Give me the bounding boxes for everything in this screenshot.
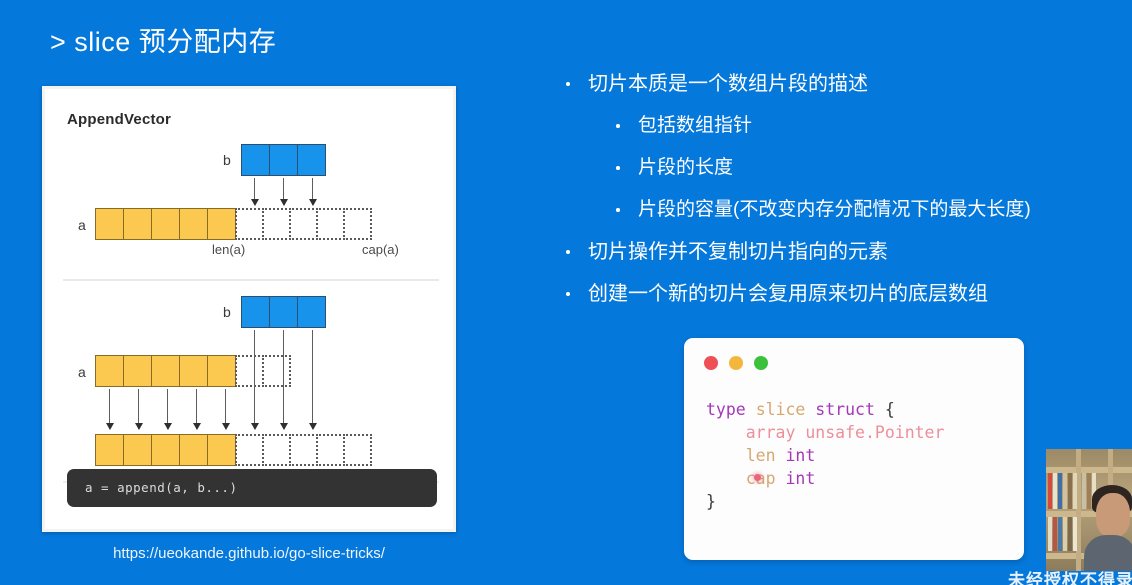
window-controls — [704, 356, 768, 370]
a-spare-cell — [316, 208, 345, 240]
list-item: 包括数组指针 — [558, 116, 1132, 136]
list-item-text: 创建一个新的切片会复用原来切片的底层数组 — [588, 283, 988, 305]
book — [1087, 473, 1091, 509]
append-code-text: a = append(a, b...) — [85, 480, 238, 495]
list-item-text: 片段的容量(不改变内存分配情况下的最大长度) — [638, 199, 1031, 220]
result-spare-cell — [289, 434, 318, 466]
a-cell — [179, 355, 208, 387]
bullet-list: 切片本质是一个数组片段的描述 包括数组指针 片段的长度 片段的容量(不改变内存分… — [558, 74, 1132, 326]
result-cell — [123, 434, 152, 466]
code-token-type: type — [706, 400, 746, 419]
a-cell — [151, 208, 180, 240]
a-cell — [123, 208, 152, 240]
result-spare-cell — [316, 434, 345, 466]
arrow-down — [196, 389, 197, 429]
arrow-down — [167, 389, 168, 429]
top-b-label: b — [223, 152, 231, 168]
bottom-a-label: a — [78, 364, 86, 380]
result-spare-cell — [343, 434, 372, 466]
bottom-b-label: b — [223, 304, 231, 320]
shelf-divider — [1076, 449, 1081, 571]
cap-label: cap(a) — [362, 242, 399, 257]
code-token-array-field: array unsafe.Pointer — [746, 423, 945, 442]
code-block: type slice struct { array unsafe.Pointer… — [706, 398, 944, 513]
close-button-icon[interactable] — [704, 356, 718, 370]
code-token-len-type: int — [786, 446, 816, 465]
slide-canvas: > slice 预分配内存 AppendVector b a — [0, 0, 1132, 585]
book — [1073, 517, 1077, 551]
result-row — [95, 434, 370, 466]
list-item-text: 片段的长度 — [638, 157, 733, 178]
a-spare-cell — [289, 208, 318, 240]
book — [1053, 473, 1057, 509]
books-group — [1048, 473, 1077, 509]
code-token-struct: struct — [815, 400, 875, 419]
a-cell — [95, 355, 124, 387]
arrow-down-long — [312, 330, 313, 429]
list-item-text: 切片本质是一个数组片段的描述 — [588, 73, 868, 95]
section-divider — [63, 279, 439, 281]
book — [1048, 473, 1052, 509]
a-spare-cell — [343, 208, 372, 240]
list-item: 片段的容量(不改变内存分配情况下的最大长度) — [558, 200, 1132, 220]
book — [1068, 517, 1072, 551]
minimize-button-icon[interactable] — [729, 356, 743, 370]
person-face — [1096, 493, 1130, 537]
a-spare-cell — [262, 355, 291, 387]
b-cell — [297, 144, 326, 176]
code-token-cap-type: int — [786, 469, 816, 488]
b-cell — [269, 144, 298, 176]
a-cell — [207, 355, 236, 387]
diagram-panel: AppendVector b a len(a) cap(a) — [42, 86, 456, 532]
top-a-row — [95, 208, 370, 240]
webcam-overlay[interactable] — [1046, 449, 1132, 571]
append-code-bar: a = append(a, b...) — [67, 469, 437, 507]
list-item: 切片本质是一个数组片段的描述 — [558, 74, 1132, 94]
list-item-text: 包括数组指针 — [638, 115, 752, 136]
list-item: 创建一个新的切片会复用原来切片的底层数组 — [558, 284, 1132, 304]
result-cell — [95, 434, 124, 466]
book — [1048, 517, 1052, 551]
bottom-a-row — [95, 355, 289, 387]
top-a-label: a — [78, 217, 86, 233]
bullet-dot-icon — [616, 166, 620, 170]
b-cell — [269, 296, 298, 328]
len-label: len(a) — [212, 242, 245, 257]
source-url: https://ueokande.github.io/go-slice-tric… — [42, 545, 456, 562]
bullet-dot-icon — [566, 82, 570, 86]
laser-pointer-cursor — [754, 474, 761, 481]
arrow-down — [312, 178, 313, 205]
arrow-down — [254, 178, 255, 205]
code-token-slice: slice — [756, 400, 806, 419]
a-cell — [207, 208, 236, 240]
book — [1063, 517, 1067, 551]
result-spare-cell — [262, 434, 291, 466]
a-cell — [179, 208, 208, 240]
book — [1058, 517, 1062, 551]
b-cell — [241, 296, 270, 328]
a-spare-cell — [262, 208, 291, 240]
book — [1068, 473, 1072, 509]
arrow-down — [138, 389, 139, 429]
arrow-down — [283, 178, 284, 205]
book — [1082, 473, 1086, 509]
bullet-dot-icon — [566, 292, 570, 296]
a-cell — [95, 208, 124, 240]
a-spare-cell — [235, 355, 264, 387]
top-b-row — [241, 144, 325, 176]
result-cell — [151, 434, 180, 466]
list-item-text: 切片操作并不复制切片指向的元素 — [588, 241, 888, 263]
a-cell — [151, 355, 180, 387]
a-cell — [123, 355, 152, 387]
maximize-button-icon[interactable] — [754, 356, 768, 370]
list-item: 片段的长度 — [558, 158, 1132, 178]
result-spare-cell — [235, 434, 264, 466]
arrow-down — [225, 389, 226, 429]
page-title: > slice 预分配内存 — [50, 20, 276, 59]
book — [1053, 517, 1057, 551]
b-cell — [241, 144, 270, 176]
bullet-dot-icon — [566, 250, 570, 254]
list-item: 切片操作并不复制切片指向的元素 — [558, 242, 1132, 262]
book — [1073, 473, 1077, 509]
bottom-b-row — [241, 296, 325, 328]
code-token-len-field: len — [746, 446, 776, 465]
diagram-title: AppendVector — [67, 111, 171, 128]
watermark-text: 未经授权不得录制 — [1008, 566, 1132, 585]
arrow-down — [109, 389, 110, 429]
bullet-dot-icon — [616, 124, 620, 128]
b-cell — [297, 296, 326, 328]
books-group — [1048, 517, 1077, 551]
bullet-dot-icon — [616, 208, 620, 212]
code-token-close-brace: } — [706, 492, 716, 511]
result-cell — [179, 434, 208, 466]
result-cell — [207, 434, 236, 466]
book — [1058, 473, 1062, 509]
code-window: type slice struct { array unsafe.Pointer… — [684, 338, 1024, 560]
code-token-open-brace: { — [885, 400, 895, 419]
a-spare-cell — [235, 208, 264, 240]
book — [1063, 473, 1067, 509]
